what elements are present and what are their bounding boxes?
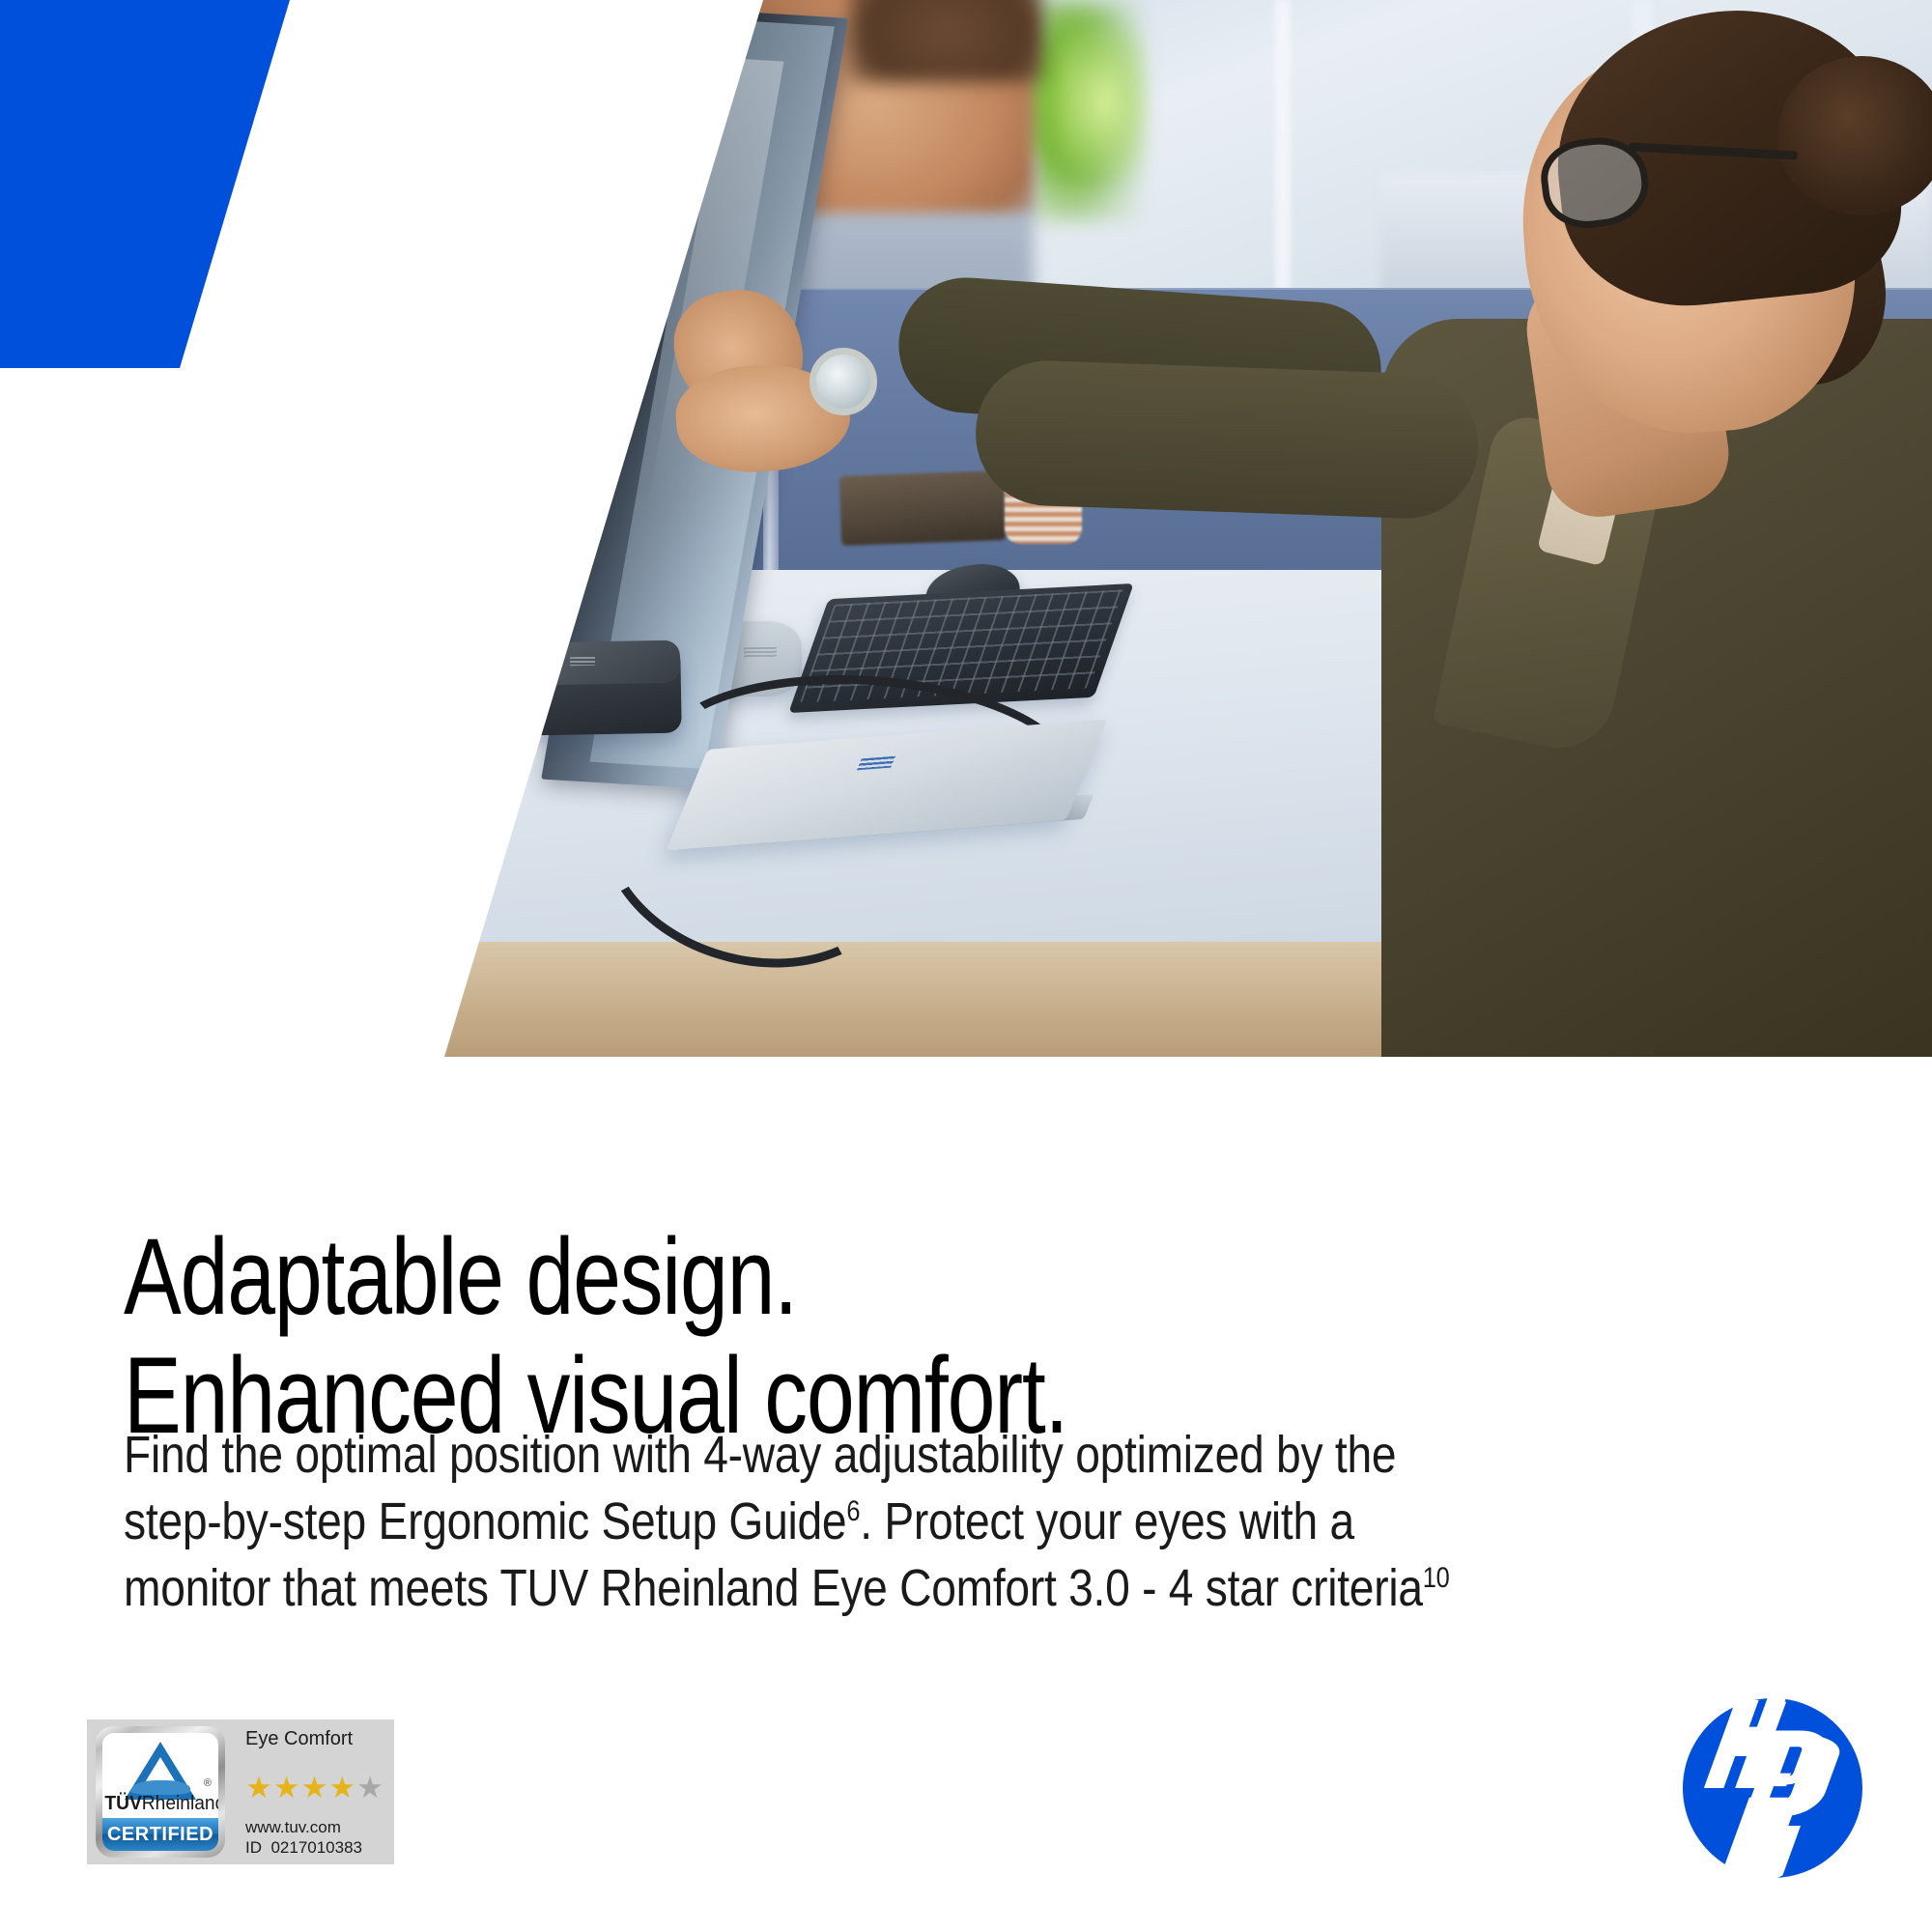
body-line-3-text: monitor that meets TUV Rheinland Eye Com… [124,1559,1423,1617]
tuv-metal-plate: ® TÜVRheinland CERTIFIED [96,1726,225,1858]
tuv-details: Eye Comfort ★★★★★ www.tuv.com ID 0217010… [234,1719,394,1864]
tuv-website: www.tuv.com [245,1817,384,1837]
window-mullion-left [1275,0,1291,290]
docking-station-top [528,640,681,686]
body-copy: Find the optimal position with 4-way adj… [124,1422,1825,1622]
chair-back [464,483,589,575]
footnote-ref-10: 10 [1423,1562,1450,1594]
hero-photo-canvas [0,0,1932,1057]
tuv-wordmark: TÜVRheinland [104,1793,215,1818]
body-line-2-text: step-by-step Ergonomic Setup Guide [124,1492,846,1550]
tuv-triangle-icon: ® [102,1733,218,1793]
cable-management-clip [558,463,610,490]
tuv-mark-container: ® TÜVRheinland CERTIFIED [87,1719,234,1864]
tuv-star-rating: ★★★★★ [245,1773,384,1803]
partition-knob-left [473,435,539,500]
brand-accent-shape [0,0,290,368]
body-line-2: step-by-step Ergonomic Setup Guide6. Pro… [124,1489,1825,1555]
stars-filled: ★★★★ [245,1771,356,1804]
partition-post-left [454,290,469,609]
tuv-plate-inner: ® TÜVRheinland CERTIFIED [102,1733,218,1851]
footnote-ref-6: 6 [846,1495,860,1527]
tuv-wordmark-light: Rheinland [142,1793,218,1814]
body-line-3: monitor that meets TUV Rheinland Eye Com… [124,1555,1825,1622]
registered-trademark-symbol: ® [204,1777,212,1789]
tuv-id-line: ID 0217010383 [245,1837,384,1858]
stars-empty: ★ [356,1771,384,1804]
body-line-1: Find the optimal position with 4-way adj… [124,1422,1825,1489]
tuv-rheinland-certification-badge: ® TÜVRheinland CERTIFIED Eye Comfort ★★★… [87,1719,394,1864]
body-line-2-tail: . Protect your eyes with a [860,1492,1354,1550]
usb-c-plug [485,701,540,720]
tuv-program-title: Eye Comfort [245,1728,384,1749]
tuv-id-value: 0217010383 [270,1838,362,1857]
desk-book [839,470,1006,546]
office-plant-highlight [1063,29,1150,174]
hp-logo-icon [1683,1698,1862,1878]
docking-station-logo-icon [570,657,595,666]
tuv-certified-banner: CERTIFIED [102,1818,218,1851]
tuv-wordmark-bold: TÜV [104,1793,141,1814]
tuv-id-label: ID [245,1838,262,1857]
hero-photo [0,0,1932,1057]
monitor-base-logo-icon [744,647,777,658]
headline-line-1: Adaptable design. [124,1217,1437,1336]
usb-c-cord [386,704,494,725]
background-colleague-hair [850,0,1043,82]
tuv-url-block: www.tuv.com ID 0217010383 [245,1817,384,1859]
person-arm-near [974,358,1481,521]
page-headline: Adaptable design. Enhanced visual comfor… [124,1217,1437,1455]
